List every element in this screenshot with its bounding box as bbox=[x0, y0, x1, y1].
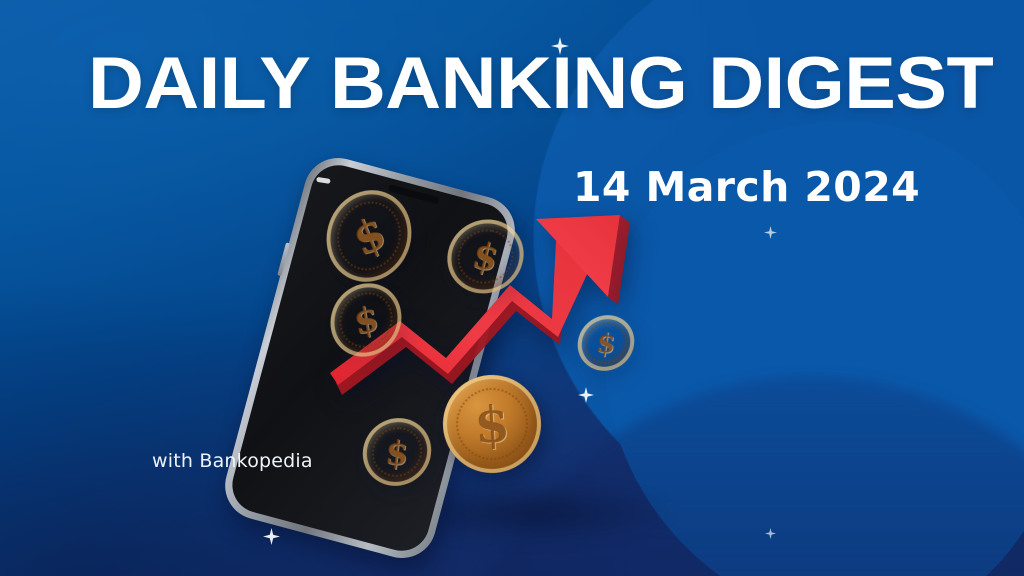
page-title: DAILY BANKING DIGEST bbox=[88, 46, 993, 123]
daily-banking-digest-banner: $ $ $ $ bbox=[0, 0, 1024, 576]
byline: with Bankopedia bbox=[152, 450, 313, 472]
issue-date: 14 March 2024 bbox=[573, 163, 920, 211]
